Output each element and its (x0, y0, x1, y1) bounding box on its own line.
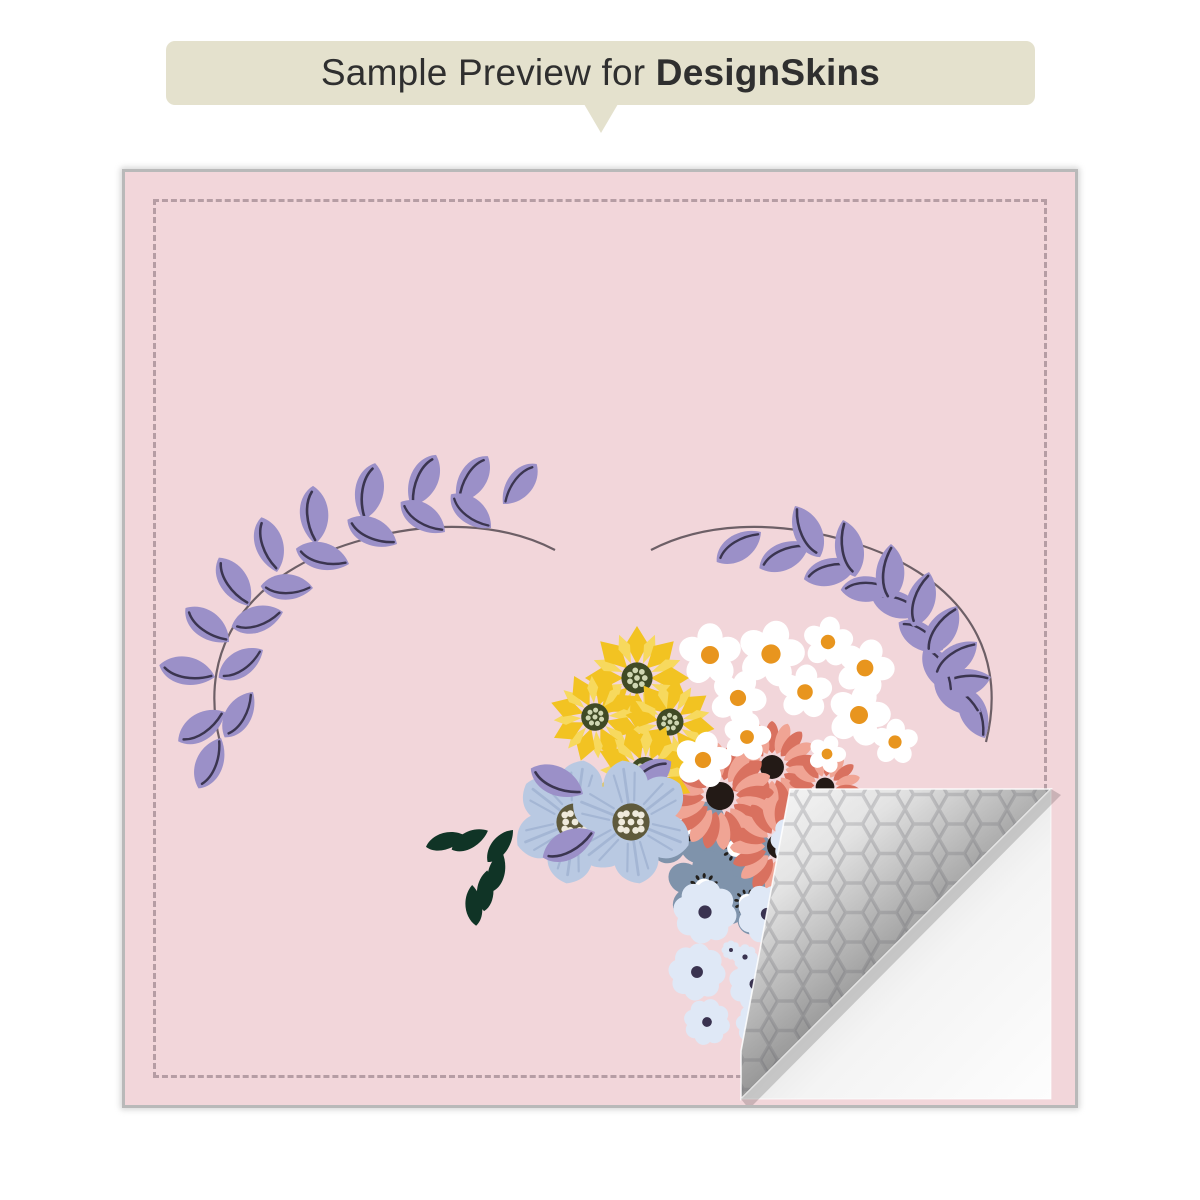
banner-title: Sample Preview for DesignSkins (321, 52, 880, 94)
dark-green-leaf-spray (417, 795, 549, 932)
flower (666, 941, 729, 1004)
peel-corner[interactable] (735, 765, 1075, 1105)
sample-preview-banner: Sample Preview for DesignSkins (166, 41, 1035, 105)
banner-brand-name: DesignSkins (656, 52, 880, 93)
banner-tail-pointer (584, 104, 618, 133)
flower (679, 994, 736, 1051)
banner-body: Sample Preview for DesignSkins (166, 41, 1035, 105)
left-purple-leaf-branch (156, 449, 555, 794)
banner-title-prefix: Sample Preview for (321, 52, 656, 93)
sticker-preview-canvas[interactable] (122, 169, 1078, 1108)
